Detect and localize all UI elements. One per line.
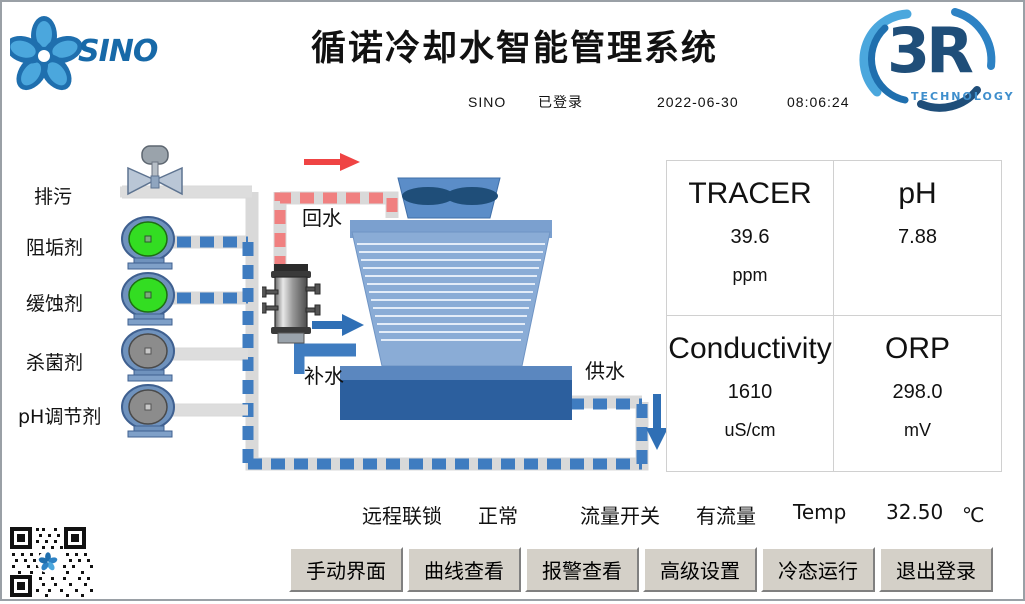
flow-switch-label: 流量开关 [580,500,660,529]
metric-unit: ppm [732,265,767,286]
label-return-water: 回水 [302,202,342,231]
metric-unit: uS/cm [724,420,775,441]
flow-arrow-return [304,153,360,171]
remote-interlock-label: 远程联锁 [362,500,442,529]
metric-name: ORP [885,332,950,365]
status-bar: 远程联锁 正常 流量开关 有流量 Temp 32.50 ℃ [2,500,1007,530]
metric-card-ph[interactable]: pH 7.88 [834,161,1001,316]
logout-button[interactable]: 退出登录 [879,547,993,592]
label-supply-water: 供水 [585,355,625,384]
remote-interlock-value: 正常 [478,500,518,529]
metric-name: Conductivity [668,332,831,365]
flow-arrow-supply-down [646,394,668,450]
metric-value: 7.88 [898,226,937,249]
cooling-tower [340,170,600,425]
temp-label: Temp [793,500,846,524]
advanced-settings-button[interactable]: 高级设置 [643,547,757,592]
toolbar: 手动界面 曲线查看 报警查看 高级设置 冷态运行 退出登录 [289,547,993,592]
alarm-view-button[interactable]: 报警查看 [525,547,639,592]
metric-card-orp[interactable]: ORP 298.0 mV [834,316,1001,471]
temp-unit: ℃ [962,503,984,527]
metric-value: 298.0 [892,381,942,404]
metric-name: TRACER [688,177,811,210]
flow-switch-value: 有流量 [696,500,756,529]
dosing-pump-ph-adjuster[interactable] [120,384,184,443]
blowdown-valve[interactable] [120,144,190,207]
cold-start-button[interactable]: 冷态运行 [761,547,875,592]
manual-interface-button[interactable]: 手动界面 [289,547,403,592]
metric-name: pH [898,177,936,210]
metric-unit: mV [904,420,931,441]
metric-value: 1610 [728,381,773,404]
qr-code[interactable] [6,525,102,599]
metric-value: 39.6 [731,226,770,249]
application-window: SINO 3R TECHNOLOGY 循诺冷却水智能管理系统 SINO 已登录 … [0,0,1025,601]
metric-card-tracer[interactable]: TRACER 39.6 ppm [667,161,834,316]
temp-value: 32.50 [886,500,943,524]
metric-card-conductivity[interactable]: Conductivity 1610 uS/cm [667,316,834,471]
dosing-pump-corrosion-inhibitor[interactable] [120,272,184,331]
dosing-pump-antiscalant[interactable] [120,216,184,275]
measurements-panel: TRACER 39.6 ppm pH 7.88 Conductivity 161… [666,160,1002,472]
dosing-pump-biocide[interactable] [120,328,184,387]
curve-view-button[interactable]: 曲线查看 [407,547,521,592]
label-makeup-water: 补水 [304,360,344,389]
